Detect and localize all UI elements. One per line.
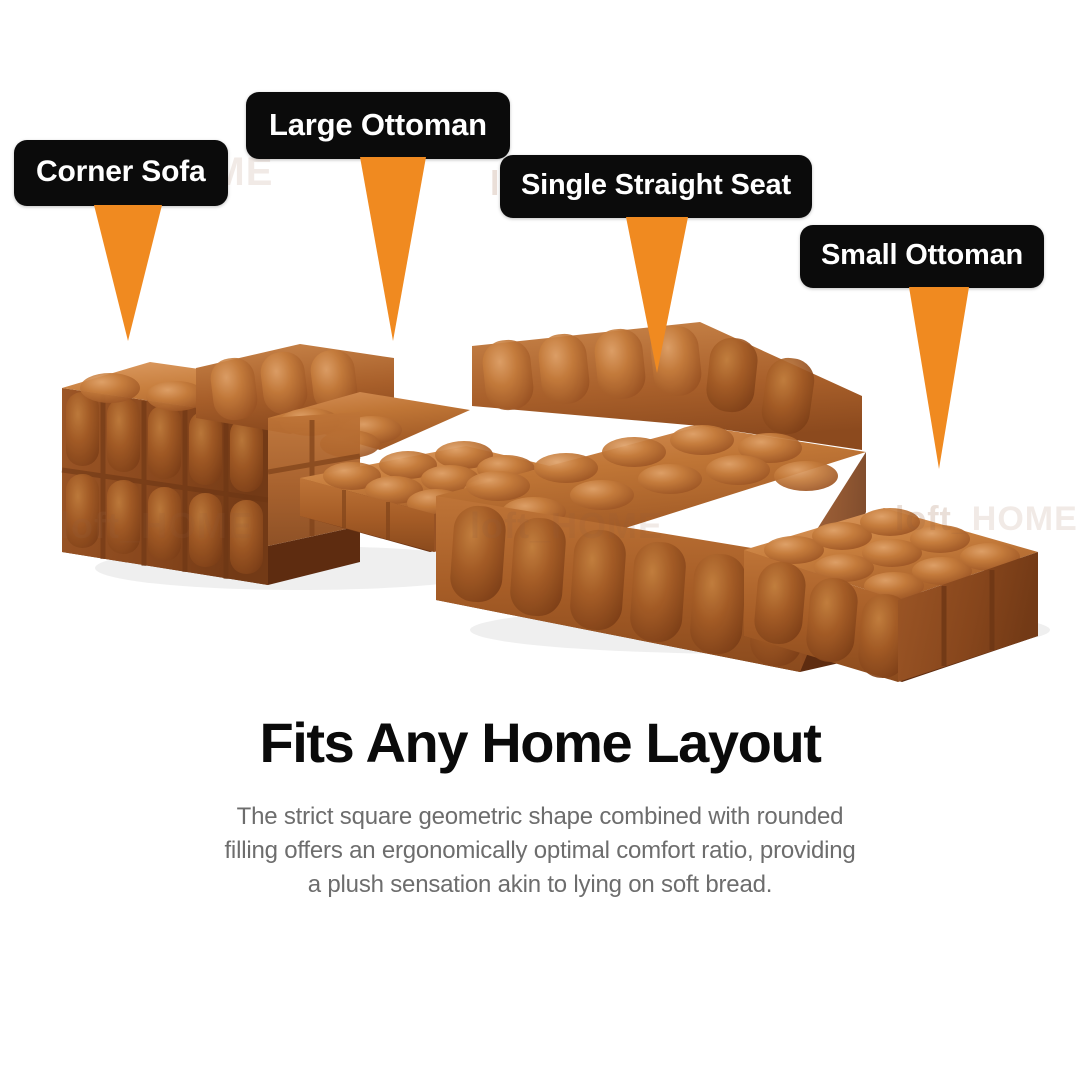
callout-large-ottoman: Large Ottoman: [246, 92, 510, 159]
body-line: The strict square geometric shape combin…: [237, 803, 844, 830]
headline: Fits Any Home Layout: [0, 712, 1080, 774]
body-copy: The strict square geometric shape combin…: [190, 800, 890, 902]
callout-single-straight-seat: Single Straight Seat: [500, 155, 812, 218]
body-line: filling offers an ergonomically optimal …: [224, 837, 855, 864]
down-triangle-icon: [622, 214, 692, 376]
callout-label-small-ottoman: Small Ottoman: [800, 225, 1044, 288]
callout-label-large-ottoman: Large Ottoman: [246, 92, 510, 159]
copy-block: Fits Any Home Layout The strict square g…: [0, 712, 1080, 902]
callout-small-ottoman: Small Ottoman: [800, 225, 1044, 288]
body-line: a plush sensation akin to lying on soft …: [308, 871, 772, 898]
callout-corner-sofa: Corner Sofa: [14, 140, 228, 206]
callout-label-single-straight-seat: Single Straight Seat: [500, 155, 812, 218]
marketing-slide: loft_HOME loft_HOME loft_HOME loft_HOME …: [0, 0, 1080, 1080]
down-triangle-icon: [89, 202, 167, 344]
down-triangle-icon: [905, 284, 973, 472]
callout-label-corner-sofa: Corner Sofa: [14, 140, 228, 206]
down-triangle-icon: [356, 154, 430, 344]
